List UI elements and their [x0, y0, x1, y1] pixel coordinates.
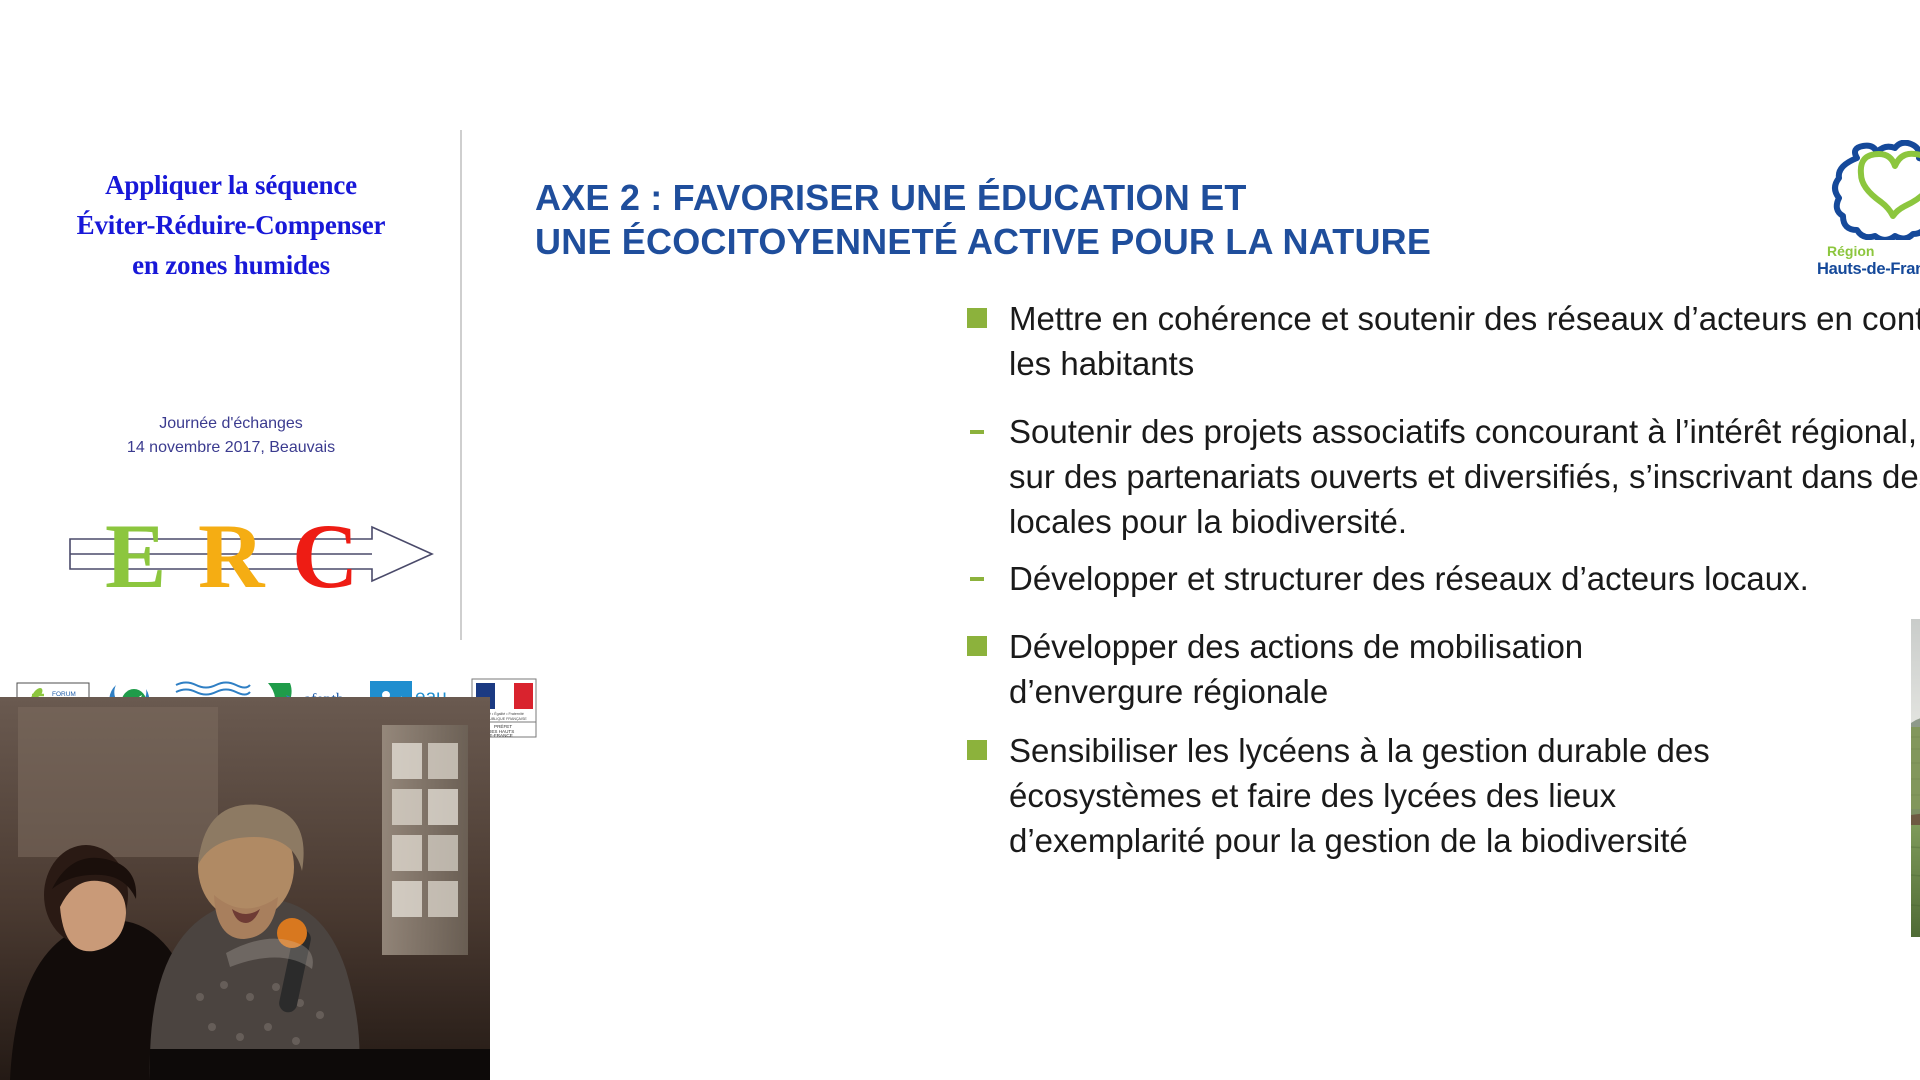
bullet-item-5-line-2: écosystèmes et faire des lycées des lieu…: [1009, 773, 1710, 818]
speaker-photo: [0, 697, 490, 1080]
region-hauts-de-france-logo: Région Hauts-de-France: [1817, 140, 1920, 290]
bullet-item-1-line-2: les habitants: [1009, 341, 1920, 386]
bullet-item-3-line-1: Développer et structurer des réseaux d’a…: [1009, 556, 1809, 601]
bullet-item-1-text: Mettre en cohérence et soutenir des rése…: [1009, 296, 1920, 386]
event-subtitle-line-1: Journée d'échanges: [0, 412, 462, 436]
bullet-item-2-line-3: locales pour la biodiversité.: [1009, 499, 1920, 544]
event-subtitle-line-2: 14 novembre 2017, Beauvais: [0, 436, 462, 460]
region-logo-name-line-1: Région: [1817, 243, 1920, 259]
left-sidebar-panel: Appliquer la séquence Éviter-Réduire-Com…: [0, 0, 462, 1080]
speaker-photo-graphic: [0, 697, 490, 1080]
square-bullet-icon: [967, 636, 987, 656]
square-bullet-icon: [967, 740, 987, 760]
slide-title-line-2: UNE ÉCOCITOYENNETÉ ACTIVE POUR LA NATURE: [535, 220, 1675, 264]
erc-letter-r: R: [198, 505, 266, 607]
erc-logo-graphic: E R C: [20, 502, 440, 607]
event-title: Appliquer la séquence Éviter-Réduire-Com…: [0, 165, 462, 285]
erc-letter-e: E: [105, 505, 166, 607]
slide-main-content: AXE 2 : FAVORISER UNE ÉDUCATION ET UNE É…: [462, 0, 1920, 1080]
event-subtitle: Journée d'échanges 14 novembre 2017, Bea…: [0, 412, 462, 460]
region-logo-name-line-2: Hauts-de-France: [1817, 260, 1920, 279]
bullet-item-1: Mettre en cohérence et soutenir des rése…: [967, 296, 1920, 386]
slide-title: AXE 2 : FAVORISER UNE ÉDUCATION ET UNE É…: [535, 176, 1675, 264]
presentation-slide: Appliquer la séquence Éviter-Réduire-Com…: [0, 0, 1920, 1080]
bullet-item-4-line-2: d’envergure régionale: [1009, 669, 1583, 714]
square-bullet-icon: [967, 308, 987, 328]
event-identity-card: Appliquer la séquence Éviter-Réduire-Com…: [0, 130, 462, 640]
bullet-item-5-line-3: d’exemplarité pour la gestion de la biod…: [1009, 818, 1710, 863]
bullet-item-4-text: Développer des actions de mobilisation d…: [1009, 624, 1583, 714]
bullet-item-4-line-1: Développer des actions de mobilisation: [1009, 624, 1583, 669]
bullet-item-2-line-2: sur des partenariats ouverts et diversif…: [1009, 454, 1920, 499]
bullet-item-2: Soutenir des projets associatifs concour…: [967, 409, 1920, 544]
dash-bullet-icon: [970, 430, 984, 434]
bullet-item-4: Développer des actions de mobilisation d…: [967, 624, 1583, 714]
dash-bullet-icon: [970, 577, 984, 581]
bullet-item-1-line-1: Mettre en cohérence et soutenir des rése…: [1009, 296, 1920, 341]
bullet-item-2-text: Soutenir des projets associatifs concour…: [1009, 409, 1920, 544]
bullet-item-5-line-1: Sensibiliser les lycéens à la gestion du…: [1009, 728, 1710, 773]
bullet-item-2-line-1: Soutenir des projets associatifs concour…: [1009, 409, 1920, 454]
event-title-line-2: Éviter-Réduire-Compenser: [0, 205, 462, 245]
slide-title-line-1: AXE 2 : FAVORISER UNE ÉDUCATION ET: [535, 176, 1675, 220]
bullet-item-5-text: Sensibiliser les lycéens à la gestion du…: [1009, 728, 1710, 863]
france-outline-icon: [1817, 140, 1920, 240]
bullet-item-3-text: Développer et structurer des réseaux d’a…: [1009, 556, 1809, 601]
bullet-item-3: Développer et structurer des réseaux d’a…: [967, 556, 1809, 601]
event-title-line-3: en zones humides: [0, 245, 462, 285]
field-activity-photo: [1911, 619, 1920, 937]
bullet-item-5: Sensibiliser les lycéens à la gestion du…: [967, 728, 1710, 863]
erc-letter-c: C: [292, 505, 358, 607]
erc-logo: E R C: [20, 502, 440, 607]
field-activity-photo-graphic: [1911, 619, 1920, 937]
event-title-line-1: Appliquer la séquence: [0, 165, 462, 205]
